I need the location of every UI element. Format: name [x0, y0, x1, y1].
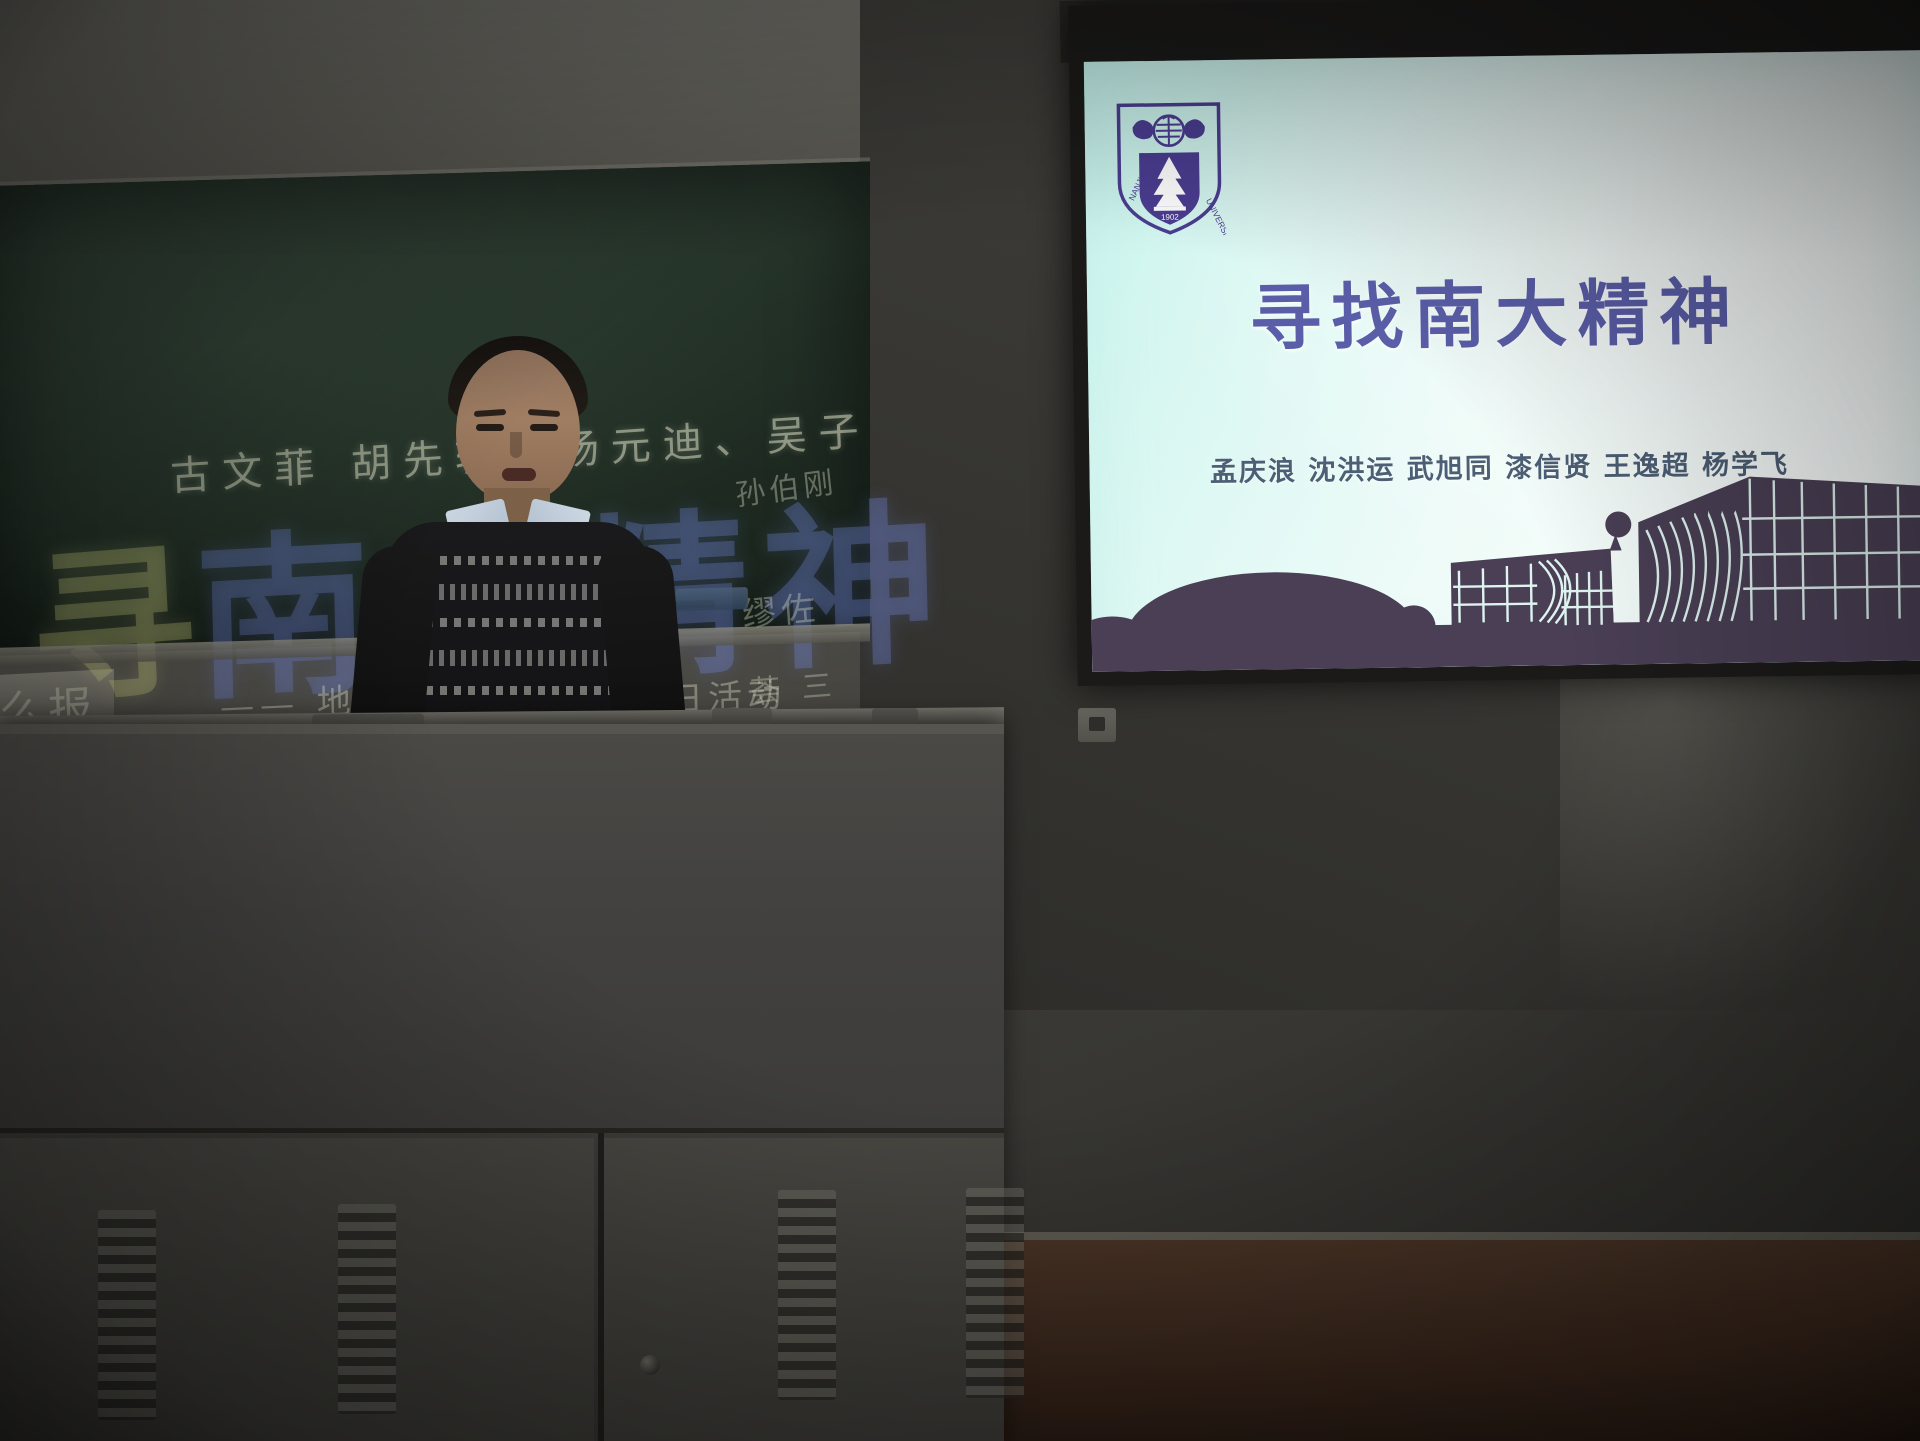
- svg-text:1902: 1902: [1161, 213, 1179, 222]
- projected-slide: 1902 NANJING UNIVERSITY 寻找南大精神 孟庆浪 沈洪运 武…: [1084, 50, 1920, 672]
- podium-vent-2: [338, 1204, 396, 1414]
- slide-title: 寻找南大精神: [1087, 250, 1904, 366]
- crest-bottom-text: UNIVERSITY: [1204, 197, 1226, 238]
- campus-buildings-illustration: [1090, 460, 1920, 672]
- classroom-photo-scene: 古文菲 胡先辅、杨元迪、吴子 寻 南大精神 —— 地理学 孙伯刚 缪佐 荟 三 …: [0, 0, 1920, 1441]
- podium-vent-3: [778, 1190, 836, 1400]
- slide-nju-crest-icon: 1902 NANJING UNIVERSITY: [1112, 96, 1226, 238]
- right-wall-light-spill: [1560, 620, 1920, 1020]
- podium-seam: [0, 1128, 1004, 1133]
- presenter-mouth: [502, 468, 536, 481]
- podium-vent-4: [966, 1188, 1024, 1398]
- presenter: [370, 336, 670, 756]
- presenter-eye-left: [476, 424, 504, 431]
- podium-door-divider: [598, 1133, 604, 1441]
- blackboard-eraser[interactable]: [676, 587, 749, 611]
- podium-vent-1: [98, 1210, 156, 1420]
- presenter-nose: [510, 432, 522, 458]
- podium-door-lock[interactable]: [640, 1355, 660, 1375]
- wood-floor: [1004, 1240, 1920, 1441]
- podium-door-left[interactable]: [0, 1138, 594, 1441]
- presenter-eye-right: [530, 424, 558, 431]
- wall-power-outlet[interactable]: [1078, 708, 1116, 742]
